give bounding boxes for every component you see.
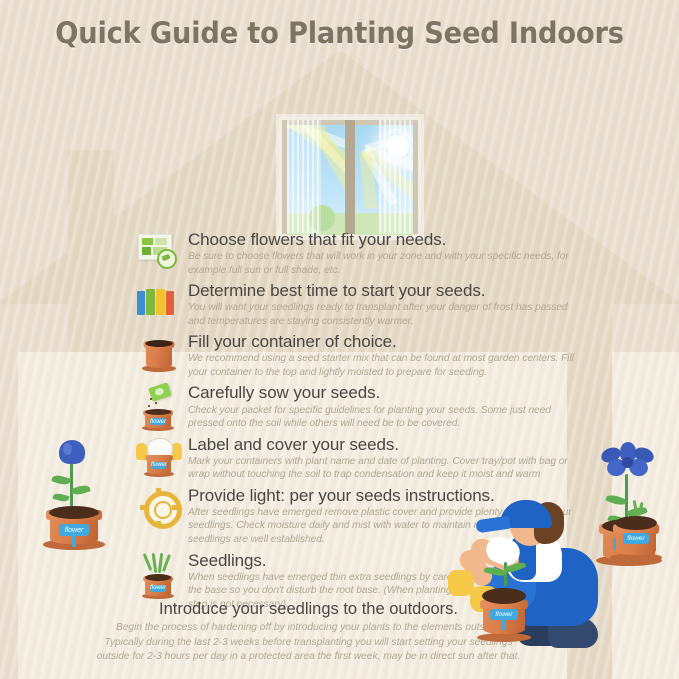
pot-body <box>146 345 172 368</box>
list-item: Choose flowers that fit your needs. Be s… <box>136 230 576 277</box>
pot-soil <box>49 506 99 519</box>
title-bar: Quick Guide to Planting Seed Indoors <box>0 16 679 50</box>
pot-tag: flower <box>150 418 166 425</box>
pot-soil <box>146 340 173 347</box>
flower-petal-highlight <box>63 443 72 455</box>
calendar-strip <box>146 289 155 315</box>
leaf <box>71 483 91 496</box>
sun-spike <box>140 505 145 510</box>
window-mullion <box>345 120 355 234</box>
calendar-strip <box>137 291 145 315</box>
list-item: Fill your container of choice. We recomm… <box>136 332 576 379</box>
step-body: Be sure to choose flowers that will work… <box>188 250 576 277</box>
window-illustration <box>279 117 421 237</box>
seedling-blade <box>152 552 158 572</box>
seed-catalog-icon <box>136 232 182 274</box>
seed-packet-pouring-icon: flower <box>136 385 182 431</box>
step-heading: Label and cover your seeds. <box>188 435 576 454</box>
gardener-pot: flower <box>476 562 532 642</box>
step-body: Mark your containers with plant name and… <box>188 455 576 482</box>
approval-badge <box>157 249 177 269</box>
catalog-swatch <box>155 238 167 245</box>
list-item: flower Label and cover your seeds. Mark … <box>136 435 576 482</box>
leaf <box>51 473 71 486</box>
seedling-blade <box>162 554 171 572</box>
infographic-canvas: Quick Guide to Planting Seed Indoors Cho… <box>0 0 679 679</box>
badge-mark <box>161 254 170 261</box>
flower-stem <box>70 458 73 510</box>
terracotta-pot <box>142 336 176 372</box>
calendar-strip <box>166 291 174 315</box>
sheer-curtain-left <box>287 120 321 234</box>
pot-tag: flower <box>150 585 166 592</box>
pot-soil <box>145 574 171 581</box>
pot-saucer <box>477 633 531 642</box>
pot-tag: flower <box>152 462 167 469</box>
seedling-pot-icon: flower <box>136 553 182 599</box>
sun-spike <box>172 505 177 510</box>
seedling-blade <box>637 502 643 516</box>
terracotta-pot: flower <box>141 573 175 599</box>
step-body: We recommend using a seed starter mix th… <box>188 352 576 379</box>
decorative-pot-left: flower <box>40 428 108 550</box>
catalog-swatch <box>142 247 151 255</box>
pot-tag-stem <box>72 535 76 547</box>
step-heading: Choose flowers that fit your needs. <box>188 230 576 249</box>
list-item: flower Carefully sow your seeds. Check y… <box>136 383 576 430</box>
list-item: Determine best time to start your seeds.… <box>136 281 576 328</box>
gardener-cap-brim <box>475 516 510 534</box>
page-title: Quick Guide to Planting Seed Indoors <box>20 16 658 50</box>
terracotta-pot: flower <box>144 453 174 477</box>
calendar-strip <box>156 289 165 315</box>
pot-soil <box>145 409 171 415</box>
gloves-covered-pot-icon: flower <box>136 437 182 479</box>
catalog-swatch <box>142 238 153 245</box>
flower-bloom <box>600 442 654 482</box>
pot-soil <box>482 588 526 604</box>
step-heading: Determine best time to start your seeds. <box>188 281 576 300</box>
calendar-icon <box>136 283 182 325</box>
seedling-blade <box>143 553 153 571</box>
step-body: Check your packet for specific guideline… <box>188 404 576 431</box>
sun-light-icon <box>136 488 182 530</box>
leaf <box>52 492 69 503</box>
empty-pot-icon <box>136 334 182 376</box>
flower-bud <box>59 440 85 464</box>
sun-inner-ring <box>154 501 172 519</box>
sun-ring <box>144 491 182 529</box>
step-body: You will want your seedlings ready to tr… <box>188 301 576 328</box>
step-heading: Fill your container of choice. <box>188 332 576 351</box>
flower-center <box>622 457 633 468</box>
falling-seed <box>155 402 157 404</box>
packet-label <box>154 387 165 396</box>
terracotta-pot: flower <box>141 407 175 431</box>
sheer-curtain-right <box>379 120 413 234</box>
step-heading: Carefully sow your seeds. <box>188 383 576 402</box>
sun-spike <box>156 521 161 526</box>
pot-rim <box>145 455 173 461</box>
sun-spike <box>156 488 161 493</box>
pot-tag-stem <box>502 619 506 630</box>
